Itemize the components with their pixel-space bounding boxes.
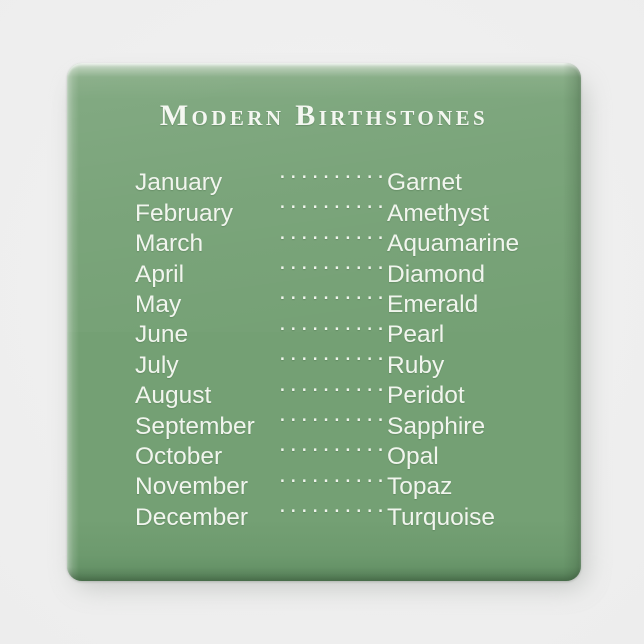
dot-leader-dots: ...........	[279, 342, 387, 365]
dot-leader: ...........	[273, 403, 387, 433]
birthstone-label: Aquamarine	[387, 229, 535, 259]
month-label: December	[135, 503, 273, 533]
dot-leader: ...........	[273, 221, 387, 251]
dot-leader-dots: ...........	[279, 251, 387, 274]
dot-leader: ...........	[273, 312, 387, 342]
birthstone-label: Turquoise	[387, 503, 535, 533]
dot-leader-dots: ...........	[279, 403, 387, 426]
dot-leader-dots: ...........	[279, 190, 387, 213]
dot-leader: ...........	[273, 342, 387, 372]
dot-leader-dots: ...........	[279, 494, 387, 517]
dot-leader: ...........	[273, 434, 387, 464]
table-row: January...........Garnet	[135, 160, 535, 190]
birthstone-magnet[interactable]: Modern Birthstones January...........Gar…	[67, 63, 581, 581]
birthstone-label: Topaz	[387, 472, 535, 502]
birthstone-label: Diamond	[387, 260, 535, 290]
dot-leader-dots: ...........	[279, 160, 387, 183]
magnet-content: Modern Birthstones January...........Gar…	[67, 63, 581, 581]
dot-leader-dots: ...........	[279, 373, 387, 396]
month-label: April	[135, 260, 273, 290]
dot-leader-dots: ...........	[279, 221, 387, 244]
month-label: September	[135, 412, 273, 442]
month-label: February	[135, 199, 273, 229]
birthstone-label: Sapphire	[387, 412, 535, 442]
dot-leader: ...........	[273, 373, 387, 403]
month-label: August	[135, 381, 273, 411]
month-label: March	[135, 229, 273, 259]
birthstone-table: January...........GarnetFebruary........…	[135, 160, 535, 525]
month-label: October	[135, 442, 273, 472]
birthstone-label: Emerald	[387, 290, 535, 320]
dot-leader: ...........	[273, 251, 387, 281]
dot-leader-dots: ...........	[279, 464, 387, 487]
birthstone-label: Peridot	[387, 381, 535, 411]
dot-leader-dots: ...........	[279, 282, 387, 305]
month-label: May	[135, 290, 273, 320]
month-label: January	[135, 168, 273, 198]
magnet-title: Modern Birthstones	[67, 99, 581, 133]
month-label: July	[135, 351, 273, 381]
birthstone-label: Pearl	[387, 320, 535, 350]
birthstone-label: Ruby	[387, 351, 535, 381]
birthstone-label: Garnet	[387, 168, 535, 198]
dot-leader-dots: ...........	[279, 312, 387, 335]
dot-leader: ...........	[273, 160, 387, 190]
dot-leader: ...........	[273, 494, 387, 524]
month-label: November	[135, 472, 273, 502]
dot-leader: ...........	[273, 190, 387, 220]
dot-leader-dots: ...........	[279, 434, 387, 457]
product-photo-scene: Modern Birthstones January...........Gar…	[0, 0, 644, 644]
birthstone-label: Opal	[387, 442, 535, 472]
month-label: June	[135, 320, 273, 350]
birthstone-label: Amethyst	[387, 199, 535, 229]
dot-leader: ...........	[273, 282, 387, 312]
dot-leader: ...........	[273, 464, 387, 494]
